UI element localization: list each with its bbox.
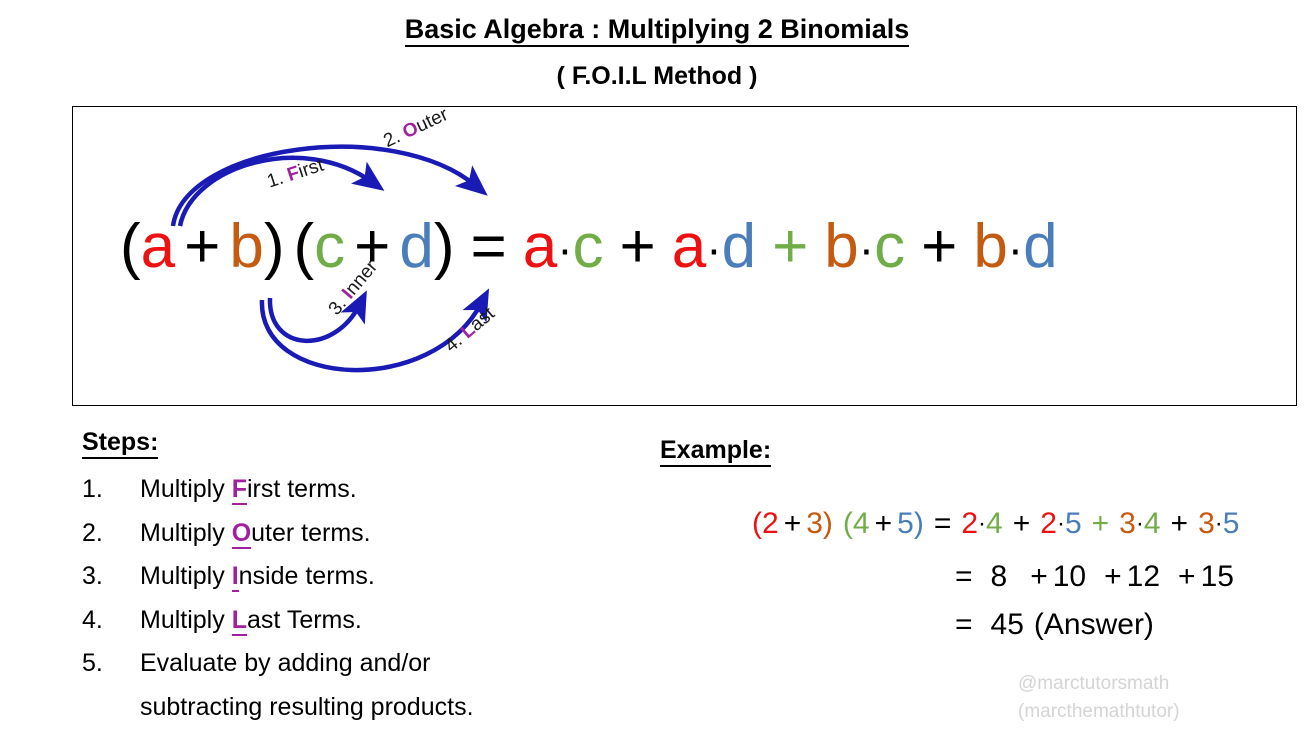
- eq-var-a-1: a: [141, 212, 175, 281]
- ex2-v4: 15: [1201, 560, 1234, 593]
- list-item: 1. Multiply First terms.: [82, 468, 642, 512]
- ex-t1-b: 4: [986, 507, 1003, 540]
- eq-term3-b: b: [824, 212, 858, 281]
- step-text-post: nside terms.: [239, 562, 375, 590]
- list-item: 4. Multiply Last Terms.: [82, 599, 642, 643]
- ex-plus-3: +: [1013, 507, 1031, 540]
- ex-t1-a: 2: [961, 507, 978, 540]
- step-text-continuation: subtracting resulting products.: [140, 686, 642, 730]
- step-highlight-letter: I: [232, 562, 239, 592]
- ex-lparen-2: (: [843, 507, 853, 540]
- step-text: Multiply Inside terms.: [140, 555, 642, 599]
- ex-t3-b: 4: [1144, 507, 1161, 540]
- step-text-pre: Multiply: [140, 519, 232, 547]
- step-text: Evaluate by adding and/or: [140, 642, 642, 686]
- ex2-plus-2: +: [1104, 560, 1122, 593]
- ex2-plus-1: +: [1030, 560, 1048, 593]
- ex-num-5a: 5: [897, 507, 914, 540]
- eq-term1-c: c: [573, 212, 604, 281]
- step-highlight-letter: F: [232, 475, 247, 505]
- ex-t3-dot: ·: [1136, 510, 1144, 537]
- ex-t4-b: 5: [1223, 507, 1240, 540]
- step-text-post: uter terms.: [251, 519, 370, 547]
- step-text-post: irst terms.: [247, 475, 357, 503]
- eq-var-b-1: b: [229, 212, 263, 281]
- eq-rparen-1: ): [264, 212, 285, 281]
- ex3-equals: =: [955, 608, 973, 641]
- ex-plus-2: +: [875, 507, 893, 540]
- ex-equals-1: =: [934, 507, 952, 540]
- page-title-text: Basic Algebra : Multiplying 2 Binomials: [405, 14, 910, 47]
- page-subtitle: ( F.O.I.L Method ): [0, 62, 1314, 91]
- step-text: Multiply Last Terms.: [140, 599, 642, 643]
- eq-lparen-2: (: [294, 212, 315, 281]
- example-line-3: =45(Answer): [955, 610, 1154, 640]
- eq-term2-dot: ·: [706, 222, 721, 274]
- eq-term4-d: d: [1023, 212, 1057, 281]
- eq-lparen-1: (: [120, 212, 141, 281]
- step-number: 3.: [82, 555, 140, 599]
- watermark-name: (marcthemathtutor): [1018, 698, 1180, 726]
- watermark-handle: @marctutorsmath: [1018, 670, 1180, 698]
- step-number: 4.: [82, 599, 140, 643]
- list-item: 2. Multiply Outer terms.: [82, 512, 642, 556]
- step-number: 2.: [82, 512, 140, 556]
- step-highlight-letter: O: [232, 519, 251, 549]
- list-item: 5. Evaluate by adding and/or: [82, 642, 642, 686]
- step-highlight-letter: L: [232, 606, 247, 636]
- step-text-pre: Multiply: [140, 606, 232, 634]
- ex-plus-1: +: [784, 507, 802, 540]
- ex2-v1: 8: [991, 560, 1008, 593]
- eq-plus-4: +: [772, 212, 808, 281]
- page-title: Basic Algebra : Multiplying 2 Binomials: [0, 14, 1314, 45]
- eq-plus-2: +: [354, 212, 390, 281]
- steps-list: 1. Multiply First terms. 2. Multiply Out…: [82, 468, 642, 729]
- example-heading: Example:: [660, 436, 771, 465]
- ex-t4-dot: ·: [1215, 510, 1223, 537]
- step-text: Multiply Outer terms.: [140, 512, 642, 556]
- list-item: 3. Multiply Inside terms.: [82, 555, 642, 599]
- eq-var-d-1: d: [399, 212, 433, 281]
- eq-term3-dot: ·: [859, 222, 874, 274]
- ex-plus-5: +: [1171, 507, 1189, 540]
- watermark: @marctutorsmath (marcthemathtutor): [1018, 670, 1180, 726]
- ex-rparen-2: ): [914, 507, 924, 540]
- step-number: 1.: [82, 468, 140, 512]
- ex2-v2: 10: [1053, 560, 1086, 593]
- ex2-v3: 12: [1127, 560, 1160, 593]
- ex-t1-dot: ·: [978, 510, 986, 537]
- ex3-note: (Answer): [1034, 608, 1154, 641]
- eq-plus-3: +: [620, 212, 656, 281]
- steps-heading: Steps:: [82, 428, 158, 457]
- ex3-total: 45: [991, 608, 1024, 641]
- ex-t2-b: 5: [1065, 507, 1082, 540]
- step-text-post: ast Terms.: [247, 606, 362, 634]
- foil-equation: (a+b)(c+d)=a·c+a·d+b·c+b·d: [120, 216, 1058, 278]
- eq-var-c-1: c: [314, 212, 345, 281]
- ex-t3-a: 3: [1119, 507, 1136, 540]
- eq-term4-b: b: [973, 212, 1007, 281]
- eq-term1-dot: ·: [557, 222, 572, 274]
- step-text-pre: Multiply: [140, 475, 232, 503]
- ex2-equals: =: [955, 560, 973, 593]
- ex-num-4a: 4: [853, 507, 870, 540]
- slide-root: Basic Algebra : Multiplying 2 Binomials …: [0, 0, 1314, 740]
- ex-t2-a: 2: [1040, 507, 1057, 540]
- eq-term2-d: d: [722, 212, 756, 281]
- eq-term3-c: c: [874, 212, 905, 281]
- example-line-2: =8+10+12+15: [955, 562, 1234, 592]
- eq-rparen-2: ): [434, 212, 455, 281]
- eq-term4-dot: ·: [1008, 222, 1023, 274]
- ex-num-2a: 2: [762, 507, 779, 540]
- ex2-plus-3: +: [1178, 560, 1196, 593]
- ex-t4-a: 3: [1198, 507, 1215, 540]
- steps-heading-text: Steps:: [82, 428, 158, 459]
- ex-t2-dot: ·: [1057, 510, 1065, 537]
- example-heading-text: Example:: [660, 436, 771, 467]
- ex-lparen-1: (: [752, 507, 762, 540]
- step-text: Multiply First terms.: [140, 468, 642, 512]
- eq-plus-1: +: [184, 212, 220, 281]
- step-text-pre: Multiply: [140, 562, 232, 590]
- ex-rparen-1: ): [823, 507, 833, 540]
- eq-plus-5: +: [921, 212, 957, 281]
- eq-term2-a: a: [672, 212, 706, 281]
- example-line-1: (2+3)(4+5)=2·4+2·5+3·4+3·5: [752, 509, 1239, 539]
- eq-term1-a: a: [523, 212, 557, 281]
- eq-equals: =: [471, 212, 507, 281]
- step-number: 5.: [82, 642, 140, 686]
- ex-num-3a: 3: [806, 507, 823, 540]
- ex-plus-4: +: [1092, 507, 1110, 540]
